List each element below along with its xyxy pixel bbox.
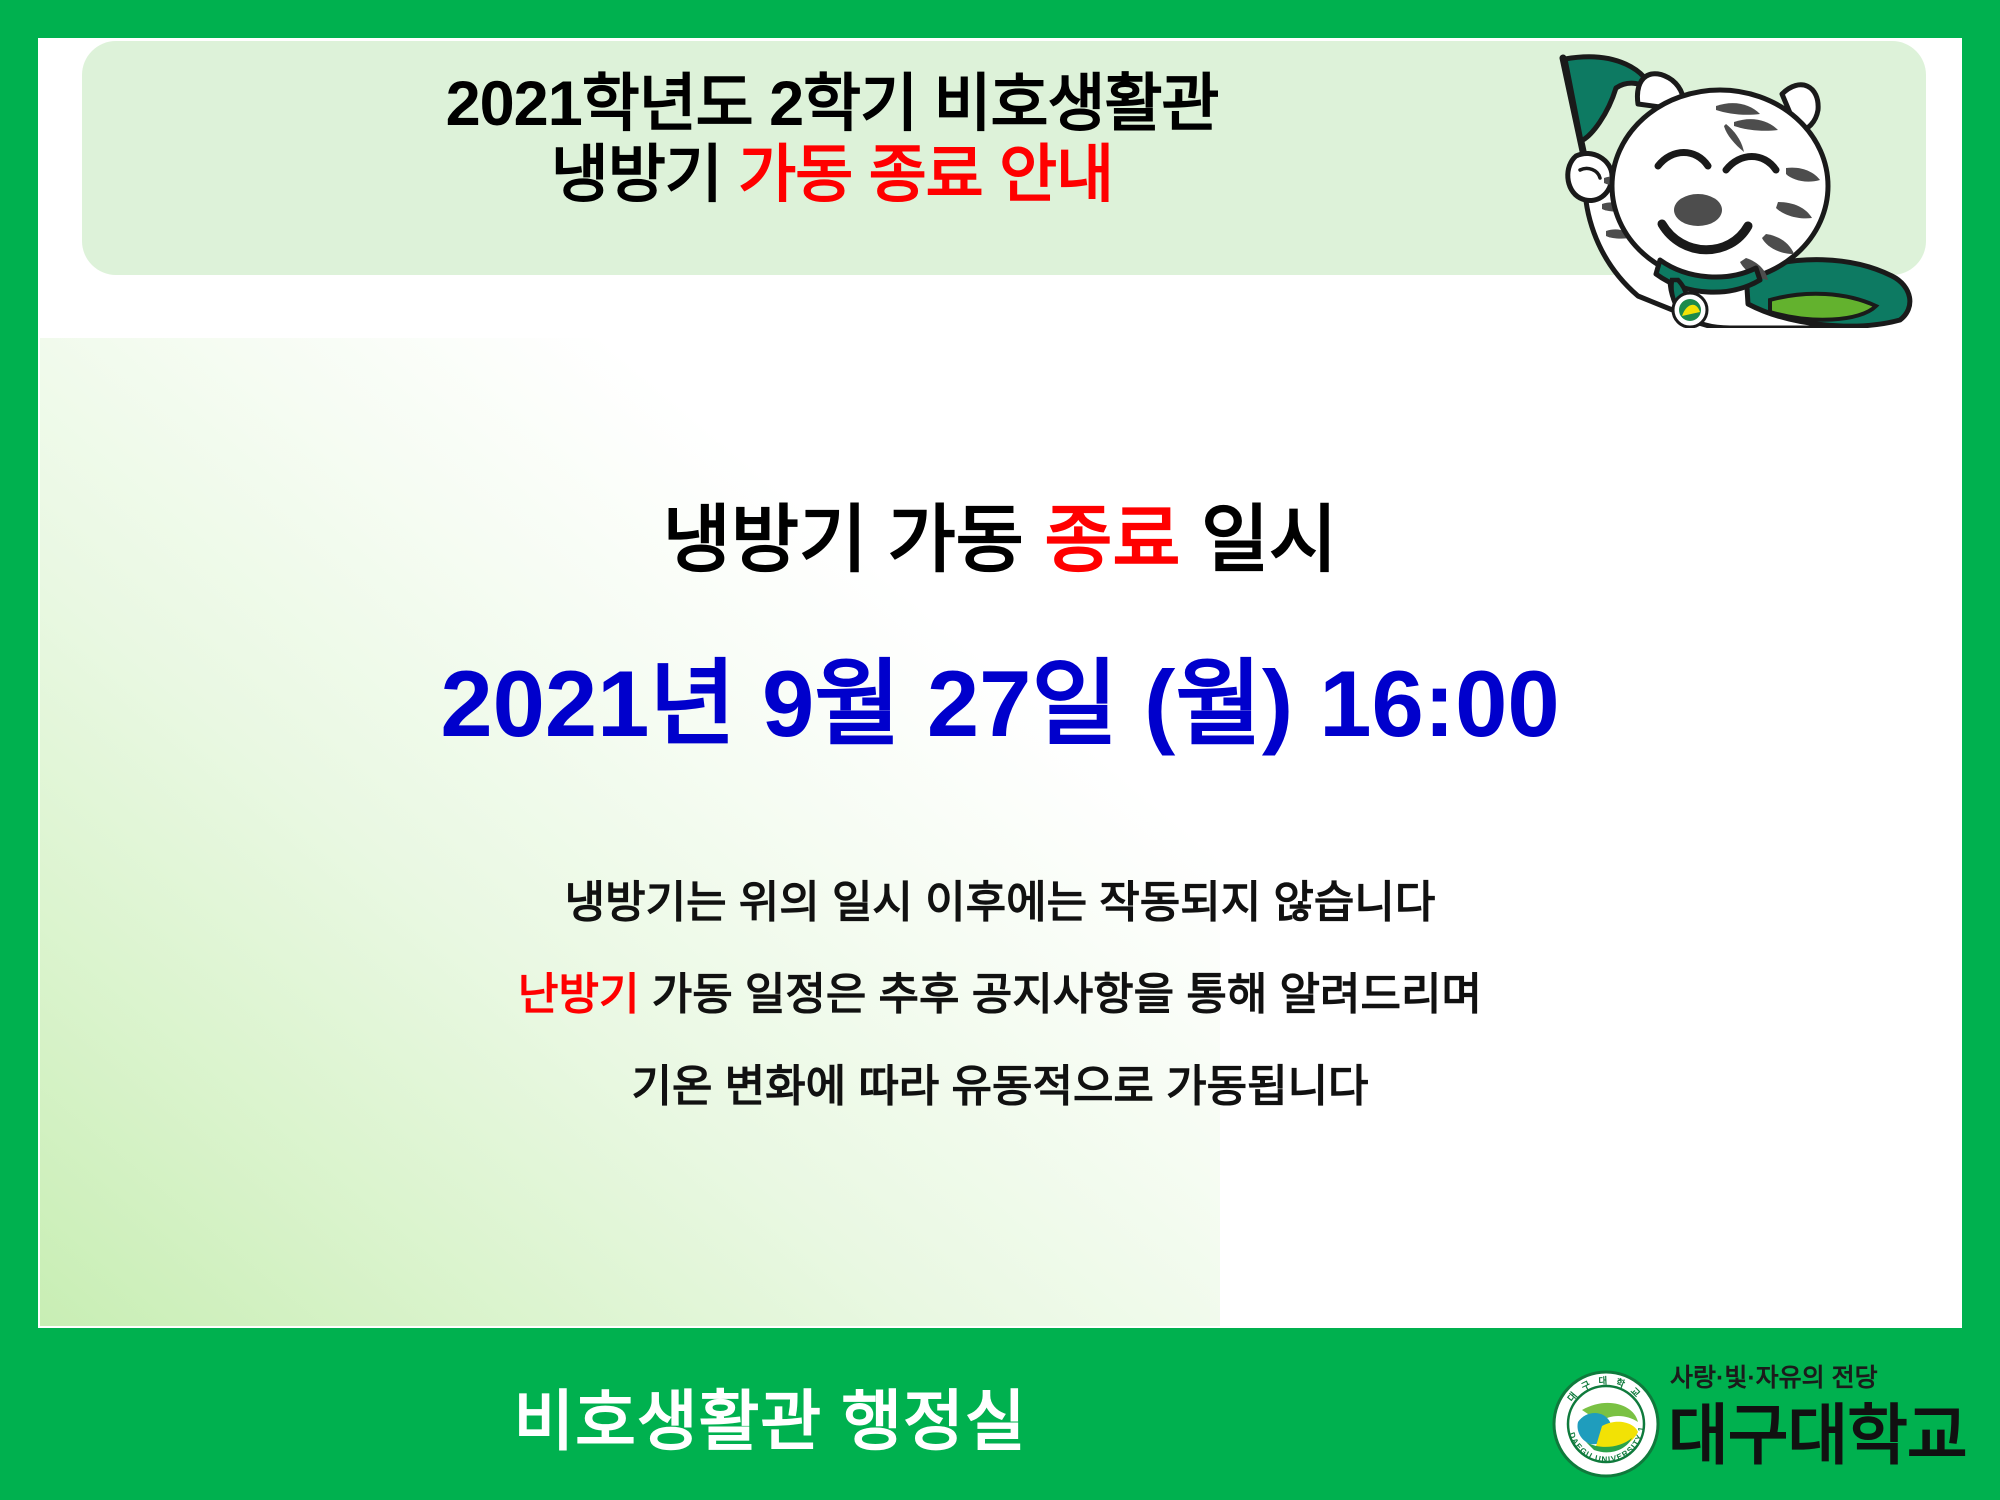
shutdown-datetime: 2021년 9월 27일 (월) 16:00	[38, 628, 1962, 764]
header-title-block: 2021학년도 2학기 비호생활관 냉방기 가동 종료 안내	[82, 69, 1582, 211]
main-heading: 냉방기 가동 종료 일시	[38, 480, 1962, 587]
header-title-line-2-accent: 가동 종료 안내	[738, 140, 1113, 210]
university-seal-icon: 대 구 대 학 교 DAEGU UNIVERSITY 1956	[1552, 1370, 1660, 1478]
header-panel: 2021학년도 2학기 비호생활관 냉방기 가동 종료 안내	[82, 41, 1926, 275]
header-title-line-2: 냉방기 가동 종료 안내	[82, 140, 1582, 211]
note-line-1: 냉방기는 위의 일시 이후에는 작동되지 않습니다	[38, 880, 1962, 926]
university-brand: 대 구 대 학 교 DAEGU UNIVERSITY 1956 사랑·빛·자유의…	[1552, 1356, 1992, 1480]
note-line-2: 난방기 가동 일정은 추후 공지사항을 통해 알려드리며	[38, 972, 1962, 1018]
header-title-line-1: 2021학년도 2학기 비호생활관	[82, 69, 1582, 140]
main-heading-pre: 냉방기 가동	[663, 498, 1045, 581]
footer-office-name: 비호생활관 행정실	[0, 1368, 1540, 1464]
note-line-2-accent: 난방기	[518, 970, 639, 1019]
poster-root: 2021학년도 2학기 비호생활관 냉방기 가동 종료 안내	[0, 0, 2000, 1500]
main-heading-accent: 종료	[1044, 498, 1180, 581]
note-line-2-text: 가동 일정은 추후 공지사항을 통해 알려드리며	[639, 970, 1481, 1019]
header-title-line-2-plain: 냉방기	[551, 140, 738, 210]
university-name: 대구대학교	[1668, 1382, 1967, 1478]
note-line-3: 기온 변화에 따라 유동적으로 가동됩니다	[38, 1064, 1962, 1110]
main-heading-post: 일시	[1180, 498, 1337, 581]
footer-bar: 비호생활관 행정실	[0, 1328, 2000, 1500]
notes-block: 냉방기는 위의 일시 이후에는 작동되지 않습니다 난방기 가동 일정은 추후 …	[38, 880, 1962, 1155]
